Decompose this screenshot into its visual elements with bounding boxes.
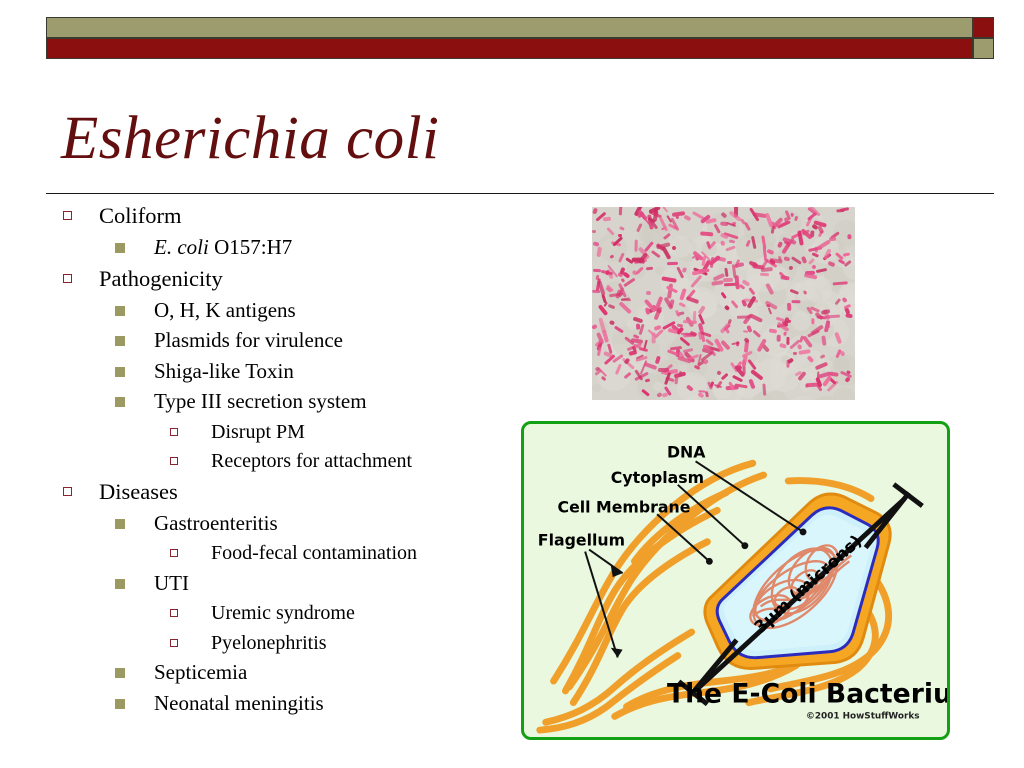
micrograph-bacillus [618,207,622,215]
label-cell-membrane: Cell Membrane [558,497,691,516]
bullet-item-l3: Receptors for attachment [52,451,522,471]
label-flagellum: Flagellum [538,531,625,550]
bullet-item-l2: UTI [52,573,522,594]
header-decorative-band [46,17,994,59]
bullet-text: Receptors for attachment [211,451,412,471]
bullet-item-l1: Diseases [52,481,522,504]
header-band-maroon-bar [46,38,973,59]
micrograph-bacillus [845,313,852,318]
bullet-text: Type III secretion system [154,391,367,412]
bullet-text: Septicemia [154,662,247,683]
micrograph-bacillus [768,308,773,316]
micrograph-bacillus [592,230,597,233]
micrograph-bacillus [635,323,639,329]
bullet-text: Shiga-like Toxin [154,361,294,382]
micrograph-bacillus [618,234,622,237]
micrograph-bacillus [791,300,801,303]
micrograph-bacillus [646,267,654,271]
gram-stain-micrograph-image [592,207,855,400]
micrograph-bacillus [621,277,626,282]
micrograph-background-speck [853,332,855,347]
diagram-credit: ©2001 HowStuffWorks [806,711,920,721]
micrograph-bacillus [737,316,750,319]
micrograph-bacillus [700,231,713,236]
micrograph-bacillus [592,241,599,247]
micrograph-bacillus [703,344,710,349]
micrograph-bacillus [727,261,732,264]
bullet-text-rest: O157:H7 [209,235,292,259]
micrograph-bacillus [645,291,651,295]
micrograph-bacillus [623,278,635,288]
bullet-text: Uremic syndrome [211,603,355,623]
bullet-item-l3: Food-fecal contamination [52,543,522,563]
micrograph-bacillus [735,366,742,370]
micrograph-bacillus [761,267,773,272]
bullet-item-l2: E. coli O157:H7 [52,237,522,258]
header-band-chip-maroon [973,17,994,38]
micrograph-bacillus [790,212,794,217]
header-band-olive-bar [46,17,973,38]
micrograph-bacillus [684,215,692,222]
micrograph-bacillus [595,275,599,280]
micrograph-background-speck [763,391,789,400]
micrograph-bacillus [723,278,733,282]
micrograph-bacillus [743,330,748,333]
micrograph-bacillus [658,368,669,372]
micrograph-bacillus [603,217,612,222]
bullet-item-l2: Gastroenteritis [52,513,522,534]
bullet-text: O, H, K antigens [154,300,296,321]
ecoli-bacterium-diagram: 3μm (microns) DNA Cytoplasm Cell Membran… [521,421,950,740]
micrograph-bacillus [787,303,792,312]
bullet-item-l2: Plasmids for virulence [52,330,522,351]
bullet-item-l3: Disrupt PM [52,422,522,442]
bullet-item-l2: Type III secretion system [52,391,522,412]
micrograph-background-speck [833,387,855,400]
bullet-item-l2: Shiga-like Toxin [52,361,522,382]
micrograph-bacillus [608,320,614,325]
bullet-text: Coliform [99,205,182,228]
micrograph-bacillus [683,319,697,323]
bullet-item-l2: Septicemia [52,662,522,683]
title-divider-rule [46,193,994,194]
micrograph-bacillus [682,267,688,273]
micrograph-bacillus [592,290,600,293]
bullet-text-italic: E. coli [154,235,209,259]
micrograph-bacillus [634,239,637,251]
bullet-text: E. coli O157:H7 [154,237,292,258]
bullet-text: UTI [154,573,189,594]
bullet-text: Plasmids for virulence [154,330,343,351]
bullet-text: Gastroenteritis [154,513,278,534]
micrograph-background-speck [804,276,832,304]
diagram-title: The E-Coli Bacterium [667,679,947,710]
bullet-text: Food-fecal contamination [211,543,417,563]
bullet-text: Pathogenicity [99,268,223,291]
bullet-item-l3: Pyelonephritis [52,633,522,653]
micrograph-bacillus [847,234,851,239]
micrograph-bacillus [724,268,728,277]
micrograph-bacillus [593,269,601,273]
header-band-row-top [46,17,994,38]
bullet-item-l2: Neonatal meningitis [52,693,522,714]
micrograph-background-speck [592,384,600,392]
label-dna: DNA [667,442,706,461]
bullet-text: Diseases [99,481,178,504]
bullet-text: Disrupt PM [211,422,305,442]
page-title: Esherichia coli [61,108,961,169]
micrograph-background-speck [788,396,817,400]
micrograph-bacillus [662,207,668,213]
micrograph-bacillus [592,207,598,214]
bullet-text: Neonatal meningitis [154,693,324,714]
micrograph-bacillus [725,329,729,334]
bullet-item-l1: Coliform [52,205,522,228]
content-bullet-list: ColiformE. coli O157:H7PathogenicityO, H… [52,205,522,723]
bullet-item-l3: Uremic syndrome [52,603,522,623]
micrograph-bacillus [667,262,678,265]
micrograph-bacillus [618,226,624,231]
bullet-item-l2: O, H, K antigens [52,300,522,321]
bullet-item-l1: Pathogenicity [52,268,522,291]
header-band-row-bottom [46,38,994,59]
micrograph-bacillus [661,393,667,398]
micrograph-bacillus [675,310,681,318]
label-cytoplasm: Cytoplasm [611,468,704,487]
micrograph-background-speck [791,311,811,331]
header-band-chip-olive [973,38,994,59]
micrograph-bacillus [762,383,766,395]
micrograph-bacillus [793,352,797,355]
bullet-text: Pyelonephritis [211,633,327,653]
diagram-svg: 3μm (microns) DNA Cytoplasm Cell Membran… [524,424,947,737]
micrograph-bacillus [656,296,664,307]
micrograph-bacillus [597,304,608,316]
